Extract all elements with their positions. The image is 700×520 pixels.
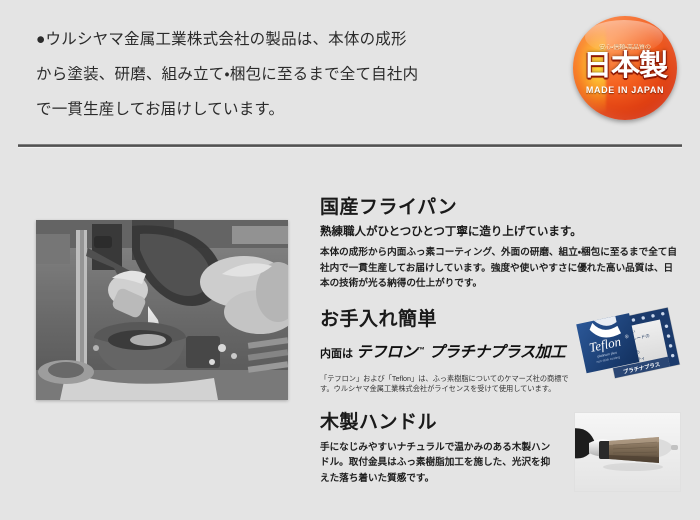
intro-line-3: で一貫生産してお届けしています。 — [36, 92, 546, 127]
lead2-prefix: 内面は — [320, 348, 356, 360]
intro-line-1: ●ウルシヤマ金属工業株式会社の製品は、本体の成形 — [36, 22, 546, 57]
product-info-page: ●ウルシヤマ金属工業株式会社の製品は、本体の成形 から塗装、研磨、組み立て・梱包… — [0, 0, 700, 520]
lead2-brand: テフロン — [356, 344, 417, 361]
section-wooden-handle: 木製ハンドル 手になじみやすいナチュラルで温かみのある木製ハンドル。取付金具はふ… — [320, 411, 680, 486]
handle-photo-image — [575, 413, 680, 491]
factory-photo-image — [36, 220, 288, 400]
section-easy-care: お手入れ簡単 内面は テフロン™ プラチナプラス加工 「テフロン」および「Tef… — [320, 308, 680, 394]
handle-photo — [575, 413, 680, 491]
intro-paragraph: ●ウルシヤマ金属工業株式会社の製品は、本体の成形 から塗装、研磨、組み立て・梱包… — [36, 22, 546, 127]
section-note-2: 「テフロン」および「Teflon」は、ふっ素樹脂についてのケマーズ社の商標です。… — [320, 374, 572, 394]
made-in-japan-badge: 安心・信頼・高品質の 日本製 MADE IN JAPAN — [573, 16, 677, 120]
lead2-suffix: プラチナプラス加工 — [425, 344, 566, 361]
section-body-1: 本体の成形から内面ふっ素コーティング、外面の研磨、組立・梱包に至るまで全て自社内… — [320, 245, 680, 292]
section-divider — [18, 144, 682, 147]
section-body-3: 手になじみやすいナチュラルで温かみのある木製ハンドル。取付金具はふっ素樹脂加工を… — [320, 440, 558, 487]
section-lead-1: 熟練職人がひとつひとつ丁寧に造り上げています。 — [320, 225, 680, 241]
badge-content: 安心・信頼・高品質の 日本製 MADE IN JAPAN — [573, 16, 677, 120]
section-title-1: 国産フライパン — [320, 196, 680, 220]
section-lead-2: 内面は テフロン™ プラチナプラス加工 — [320, 343, 572, 363]
factory-photo — [36, 220, 288, 400]
section-3-text: 木製ハンドル 手になじみやすいナチュラルで温かみのある木製ハンドル。取付金具はふ… — [320, 411, 558, 486]
intro-line-2: から塗装、研磨、組み立て・梱包に至るまで全て自社内 — [36, 57, 546, 92]
section-title-3: 木製ハンドル — [320, 411, 558, 435]
section-title-2: お手入れ簡単 — [320, 308, 572, 332]
section-domestic-frypan: 国産フライパン 熟練職人がひとつひとつ丁寧に造り上げています。 本体の成形から内… — [320, 196, 680, 292]
badge-sub-text: MADE IN JAPAN — [586, 85, 664, 95]
lead2-trademark: ™ — [417, 345, 425, 354]
teflon-logo: プラチナプラス 傷に強い ハイグレードの 耐久性 高性能の クオリティ — [575, 306, 693, 388]
badge-kicker-text: 安心・信頼・高品質の — [599, 42, 651, 50]
content-column: 国産フライパン 熟練職人がひとつひとつ丁寧に造り上げています。 本体の成形から内… — [320, 196, 680, 493]
badge-main-text: 日本製 — [583, 52, 667, 81]
teflon-logo-image: プラチナプラス 傷に強い ハイグレードの 耐久性 高性能の クオリティ — [575, 306, 693, 388]
section-2-text: お手入れ簡単 内面は テフロン™ プラチナプラス加工 「テフロン」および「Tef… — [320, 308, 572, 394]
